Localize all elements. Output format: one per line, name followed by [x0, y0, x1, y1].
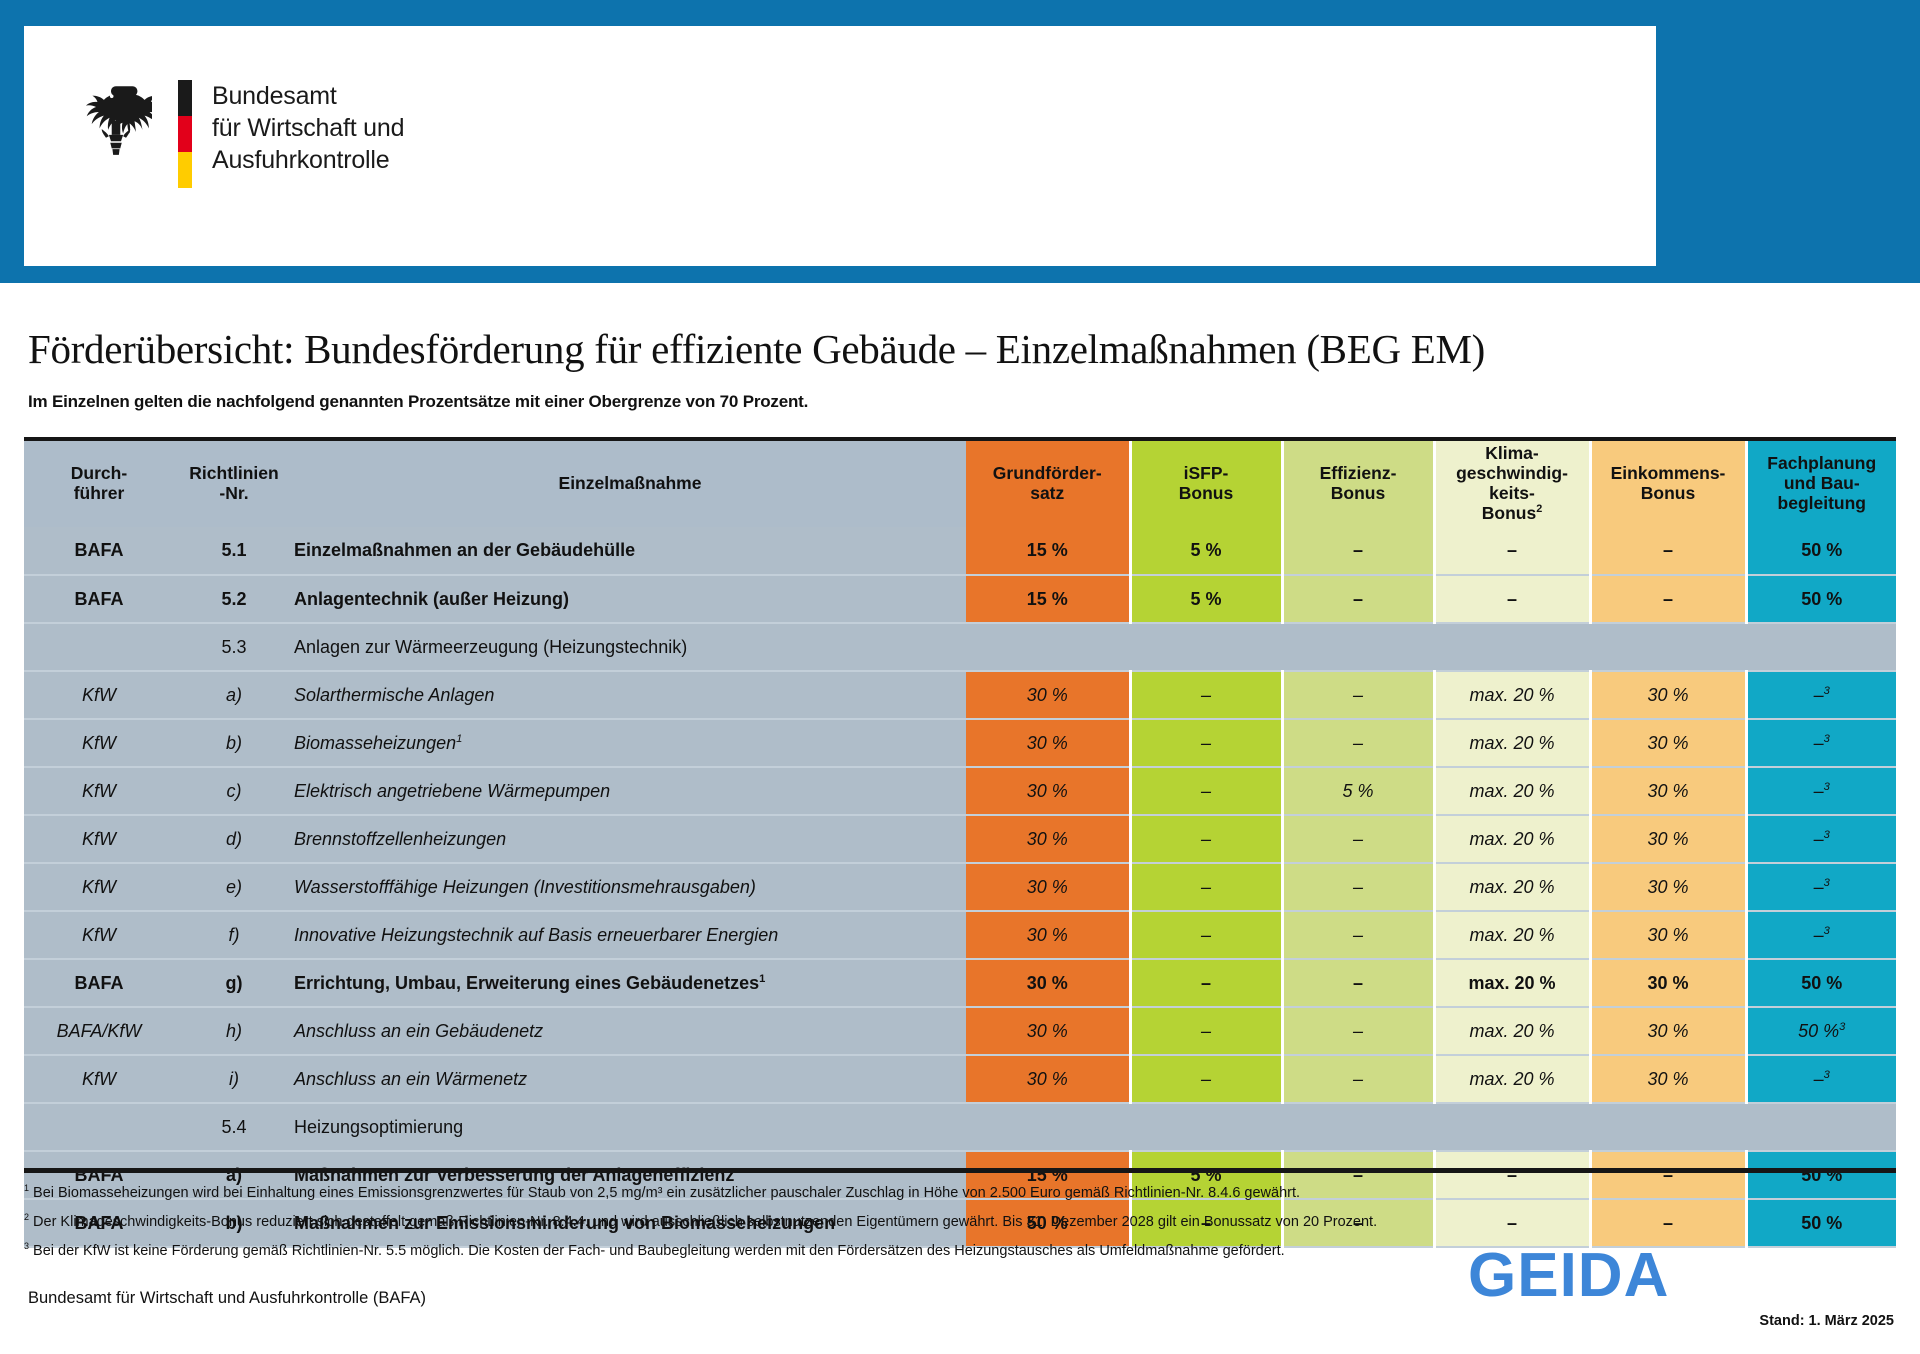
cell-einzelmassnahme: Innovative Heizungstechnik auf Basis ern…: [294, 911, 966, 959]
footnote-marker: 3: [1824, 685, 1830, 697]
page-title: Förderübersicht: Bundesförderung für eff…: [28, 325, 1485, 373]
table-row: KfWb)Biomasseheizungen130 %––max. 20 %30…: [24, 719, 1896, 767]
cell-grundfoerdersatz: 30 %: [966, 671, 1130, 719]
cell-effizienz-bonus: –: [1282, 671, 1434, 719]
isfp-l2: Bonus: [1179, 483, 1233, 503]
cell-section-filler: [966, 623, 1896, 671]
cell-fachplanung: 50 %: [1746, 959, 1896, 1007]
cell-effizienz-bonus: –: [1282, 527, 1434, 575]
cell-richtlinien-nr: 5.1: [174, 527, 294, 575]
funding-table: Durch- führer Richtlinien -Nr. Einzelmaß…: [24, 437, 1896, 1248]
cell-einkommens-bonus: 30 %: [1590, 863, 1746, 911]
cell-fachplanung: –3: [1746, 863, 1896, 911]
col-header-effizienz-bonus: Effizienz- Bonus: [1282, 439, 1434, 527]
cell-richtlinien-nr: 5.3: [174, 623, 294, 671]
cell-fachplanung: 50 %3: [1746, 1007, 1896, 1055]
cell-durchfuehrer: KfW: [24, 815, 174, 863]
cell-richtlinien-nr: b): [174, 719, 294, 767]
cell-grundfoerdersatz: 30 %: [966, 719, 1130, 767]
cell-fachplanung: –3: [1746, 719, 1896, 767]
footnotes-block: 1 Bei Biomasseheizungen wird bei Einhalt…: [24, 1183, 1524, 1271]
cell-klima-bonus: max. 20 %: [1434, 719, 1590, 767]
cell-durchfuehrer: [24, 1103, 174, 1151]
cell-effizienz-bonus: –: [1282, 911, 1434, 959]
cell-klima-bonus: –: [1434, 527, 1590, 575]
cell-einzelmassnahme: Errichtung, Umbau, Erweiterung eines Geb…: [294, 959, 966, 1007]
cell-einkommens-bonus: –: [1590, 527, 1746, 575]
cell-klima-bonus: max. 20 %: [1434, 1055, 1590, 1103]
effizienz-l1: Effizienz-: [1320, 463, 1397, 483]
cell-grundfoerdersatz: 30 %: [966, 1055, 1130, 1103]
header-white-panel: Bundesamt für Wirtschaft und Ausfuhrkont…: [24, 26, 1656, 266]
page-root: Bundesamt für Wirtschaft und Ausfuhrkont…: [0, 0, 1920, 1354]
cell-einzelmassnahme: Biomasseheizungen1: [294, 719, 966, 767]
cell-richtlinien-nr: 5.4: [174, 1103, 294, 1151]
cell-grundfoerdersatz: 30 %: [966, 959, 1130, 1007]
cell-isfp-bonus: –: [1130, 1007, 1282, 1055]
klima-l1: Klima-: [1485, 443, 1538, 463]
cell-effizienz-bonus: –: [1282, 1007, 1434, 1055]
cell-richtlinien-nr: i): [174, 1055, 294, 1103]
footnote-marker: 3: [1824, 733, 1830, 745]
cell-einkommens-bonus: 30 %: [1590, 719, 1746, 767]
footnote-marker: 3: [1824, 925, 1830, 937]
col-header-grundfoerdersatz: Grundförder- satz: [966, 439, 1130, 527]
cell-isfp-bonus: –: [1130, 1055, 1282, 1103]
cell-einzelmassnahme: Heizungsoptimierung: [294, 1103, 966, 1151]
cell-einkommens-bonus: 30 %: [1590, 1007, 1746, 1055]
stand-date: Stand: 1. März 2025: [1759, 1313, 1894, 1329]
cell-richtlinien-nr: a): [174, 671, 294, 719]
cell-durchfuehrer: KfW: [24, 863, 174, 911]
cell-effizienz-bonus: –: [1282, 719, 1434, 767]
cell-klima-bonus: max. 20 %: [1434, 959, 1590, 1007]
table-section-row: 5.4Heizungsoptimierung: [24, 1103, 1896, 1151]
cell-einkommens-bonus: 30 %: [1590, 911, 1746, 959]
cell-richtlinien-nr: h): [174, 1007, 294, 1055]
table-header-row: Durch- führer Richtlinien -Nr. Einzelmaß…: [24, 439, 1896, 527]
table-row: BAFA5.1Einzelmaßnahmen an der Gebäudehül…: [24, 527, 1896, 575]
cell-fachplanung: –3: [1746, 671, 1896, 719]
cell-richtlinien-nr: d): [174, 815, 294, 863]
german-flag-bar: [178, 80, 192, 188]
cell-durchfuehrer: KfW: [24, 1055, 174, 1103]
funding-table-container: Durch- führer Richtlinien -Nr. Einzelmaß…: [24, 437, 1896, 1248]
grundfoerder-l2: satz: [1030, 483, 1064, 503]
cell-fachplanung: –3: [1746, 911, 1896, 959]
footnote-marker: 3: [1824, 1069, 1830, 1081]
col-header-isfp-bonus: iSFP- Bonus: [1130, 439, 1282, 527]
footnote-marker: 1: [759, 973, 765, 985]
cell-richtlinien-nr: e): [174, 863, 294, 911]
footnote-marker: 1: [24, 1183, 29, 1193]
logo-line-1: Bundesamt: [212, 80, 404, 112]
table-section-row: 5.3Anlagen zur Wärmeerzeugung (Heizungst…: [24, 623, 1896, 671]
table-bottom-rule: [24, 1168, 1896, 1173]
footnote: 3 Bei der KfW ist keine Förderung gemäß …: [24, 1241, 1524, 1260]
cell-klima-bonus: max. 20 %: [1434, 911, 1590, 959]
cell-isfp-bonus: –: [1130, 959, 1282, 1007]
cell-einkommens-bonus: 30 %: [1590, 1055, 1746, 1103]
richtlinien-l2: -Nr.: [219, 483, 248, 503]
cell-durchfuehrer: KfW: [24, 911, 174, 959]
cell-effizienz-bonus: –: [1282, 1055, 1434, 1103]
federal-eagle-icon: [80, 82, 152, 162]
cell-durchfuehrer: BAFA/KfW: [24, 1007, 174, 1055]
cell-durchfuehrer: [24, 623, 174, 671]
cell-klima-bonus: max. 20 %: [1434, 863, 1590, 911]
cell-isfp-bonus: –: [1130, 911, 1282, 959]
klima-l4: Bonus: [1482, 503, 1536, 523]
cell-grundfoerdersatz: 15 %: [966, 527, 1130, 575]
cell-durchfuehrer: KfW: [24, 719, 174, 767]
header-band: Bundesamt für Wirtschaft und Ausfuhrkont…: [0, 0, 1920, 283]
cell-isfp-bonus: –: [1130, 863, 1282, 911]
cell-grundfoerdersatz: 15 %: [966, 575, 1130, 623]
table-row: KfWc)Elektrisch angetriebene Wärmepumpen…: [24, 767, 1896, 815]
cell-einkommens-bonus: –: [1590, 575, 1746, 623]
cell-richtlinien-nr: f): [174, 911, 294, 959]
footnote-marker: 3: [1824, 829, 1830, 841]
cell-einkommens-bonus: 30 %: [1590, 815, 1746, 863]
cell-effizienz-bonus: –: [1282, 959, 1434, 1007]
table-row: KfWe)Wasserstofffähige Heizungen (Invest…: [24, 863, 1896, 911]
cell-fachplanung: –3: [1746, 1055, 1896, 1103]
cell-einzelmassnahme: Einzelmaßnahmen an der Gebäudehülle: [294, 527, 966, 575]
cell-einzelmassnahme: Elektrisch angetriebene Wärmepumpen: [294, 767, 966, 815]
fach-l3: begleitung: [1778, 493, 1866, 513]
table-row: BAFA/KfWh)Anschluss an ein Gebäudenetz30…: [24, 1007, 1896, 1055]
page-subtitle: Im Einzelnen gelten die nachfolgend gena…: [28, 392, 808, 412]
cell-einzelmassnahme: Anlagentechnik (außer Heizung): [294, 575, 966, 623]
richtlinien-l1: Richtlinien: [189, 463, 278, 483]
durchfuehrer-l2: führer: [74, 483, 125, 503]
geida-logo: GEIDA: [1468, 1240, 1669, 1311]
fach-l2: und Bau-: [1784, 473, 1860, 493]
klima-l3: keits-: [1489, 483, 1535, 503]
cell-effizienz-bonus: –: [1282, 815, 1434, 863]
cell-richtlinien-nr: 5.2: [174, 575, 294, 623]
cell-einzelmassnahme: Wasserstofffähige Heizungen (Investition…: [294, 863, 966, 911]
footnote-marker: 3: [1824, 877, 1830, 889]
table-body: BAFA5.1Einzelmaßnahmen an der Gebäudehül…: [24, 527, 1896, 1247]
table-row: KfWf)Innovative Heizungstechnik auf Basi…: [24, 911, 1896, 959]
cell-effizienz-bonus: –: [1282, 575, 1434, 623]
col-header-einzelmassnahme: Einzelmaßnahme: [294, 439, 966, 527]
cell-grundfoerdersatz: 30 %: [966, 911, 1130, 959]
cell-durchfuehrer: BAFA: [24, 527, 174, 575]
footnote-marker: 3: [1839, 1021, 1845, 1033]
cell-einkommens-bonus: –: [1590, 1151, 1746, 1199]
cell-isfp-bonus: 5 %: [1130, 527, 1282, 575]
cell-einzelmassnahme: Anschluss an ein Gebäudenetz: [294, 1007, 966, 1055]
grundfoerder-l1: Grundförder-: [993, 463, 1102, 483]
cell-fachplanung: 50 %: [1746, 1151, 1896, 1199]
cell-effizienz-bonus: 5 %: [1282, 767, 1434, 815]
cell-grundfoerdersatz: 30 %: [966, 815, 1130, 863]
footnote-marker: 3: [24, 1241, 29, 1251]
cell-isfp-bonus: –: [1130, 719, 1282, 767]
col-header-fachplanung-baubegleitung: Fachplanung und Bau- begleitung: [1746, 439, 1896, 527]
cell-klima-bonus: max. 20 %: [1434, 1007, 1590, 1055]
cell-grundfoerdersatz: 30 %: [966, 767, 1130, 815]
table-row: BAFA5.2Anlagentechnik (außer Heizung)15 …: [24, 575, 1896, 623]
cell-fachplanung: –3: [1746, 767, 1896, 815]
effizienz-l2: Bonus: [1331, 483, 1385, 503]
footnote-marker: 3: [1824, 781, 1830, 793]
fach-l1: Fachplanung: [1767, 453, 1876, 473]
cell-einzelmassnahme: Brennstoffzellenheizungen: [294, 815, 966, 863]
footnote-marker: 2: [24, 1212, 29, 1222]
einkommen-l1: Einkommens-: [1611, 463, 1726, 483]
klima-footnote-marker: 2: [1536, 503, 1542, 515]
logo-line-2: für Wirtschaft und: [212, 112, 404, 144]
table-row: KfWd)Brennstoffzellenheizungen30 %––max.…: [24, 815, 1896, 863]
footnote-marker: 1: [456, 733, 462, 745]
cell-einkommens-bonus: 30 %: [1590, 671, 1746, 719]
footer-organisation: Bundesamt für Wirtschaft und Ausfuhrkont…: [28, 1289, 426, 1308]
durchfuehrer-l1: Durch-: [71, 463, 127, 483]
cell-grundfoerdersatz: 30 %: [966, 863, 1130, 911]
cell-klima-bonus: max. 20 %: [1434, 671, 1590, 719]
cell-richtlinien-nr: c): [174, 767, 294, 815]
cell-grundfoerdersatz: 30 %: [966, 1007, 1130, 1055]
cell-fachplanung: 50 %: [1746, 575, 1896, 623]
cell-fachplanung: 50 %: [1746, 1199, 1896, 1247]
cell-klima-bonus: –: [1434, 575, 1590, 623]
isfp-l1: iSFP-: [1184, 463, 1229, 483]
cell-richtlinien-nr: g): [174, 959, 294, 1007]
col-header-einkommens-bonus: Einkommens- Bonus: [1590, 439, 1746, 527]
footnote: 2 Der Klimageschwindigkeits-Bonus reduzi…: [24, 1212, 1524, 1231]
footnote: 1 Bei Biomasseheizungen wird bei Einhalt…: [24, 1183, 1524, 1202]
cell-einzelmassnahme: Anschluss an ein Wärmenetz: [294, 1055, 966, 1103]
cell-klima-bonus: max. 20 %: [1434, 815, 1590, 863]
table-row: KfWa)Solarthermische Anlagen30 %––max. 2…: [24, 671, 1896, 719]
cell-klima-bonus: max. 20 %: [1434, 767, 1590, 815]
table-row: BAFAg)Errichtung, Umbau, Erweiterung ein…: [24, 959, 1896, 1007]
bafa-logo-text: Bundesamt für Wirtschaft und Ausfuhrkont…: [212, 78, 404, 176]
table-row: KfWi)Anschluss an ein Wärmenetz30 %––max…: [24, 1055, 1896, 1103]
cell-effizienz-bonus: –: [1282, 863, 1434, 911]
cell-einkommens-bonus: 30 %: [1590, 959, 1746, 1007]
cell-isfp-bonus: 5 %: [1130, 575, 1282, 623]
bafa-logo: Bundesamt für Wirtschaft und Ausfuhrkont…: [80, 78, 404, 188]
cell-section-filler: [966, 1103, 1896, 1151]
cell-durchfuehrer: BAFA: [24, 575, 174, 623]
col-header-durchfuehrer: Durch- führer: [24, 439, 174, 527]
cell-isfp-bonus: –: [1130, 671, 1282, 719]
einkommen-l2: Bonus: [1641, 483, 1695, 503]
cell-isfp-bonus: –: [1130, 767, 1282, 815]
cell-fachplanung: 50 %: [1746, 527, 1896, 575]
cell-durchfuehrer: KfW: [24, 671, 174, 719]
cell-einzelmassnahme: Solarthermische Anlagen: [294, 671, 966, 719]
cell-isfp-bonus: –: [1130, 815, 1282, 863]
col-header-klimageschwindigkeits-bonus: Klima- geschwindig- keits- Bonus2: [1434, 439, 1590, 527]
klima-l2: geschwindig-: [1456, 463, 1568, 483]
cell-durchfuehrer: KfW: [24, 767, 174, 815]
col-header-richtlinien-nr: Richtlinien -Nr.: [174, 439, 294, 527]
cell-fachplanung: –3: [1746, 815, 1896, 863]
cell-einzelmassnahme: Anlagen zur Wärmeerzeugung (Heizungstech…: [294, 623, 966, 671]
cell-durchfuehrer: BAFA: [24, 959, 174, 1007]
logo-line-3: Ausfuhrkontrolle: [212, 144, 404, 176]
cell-einkommens-bonus: 30 %: [1590, 767, 1746, 815]
